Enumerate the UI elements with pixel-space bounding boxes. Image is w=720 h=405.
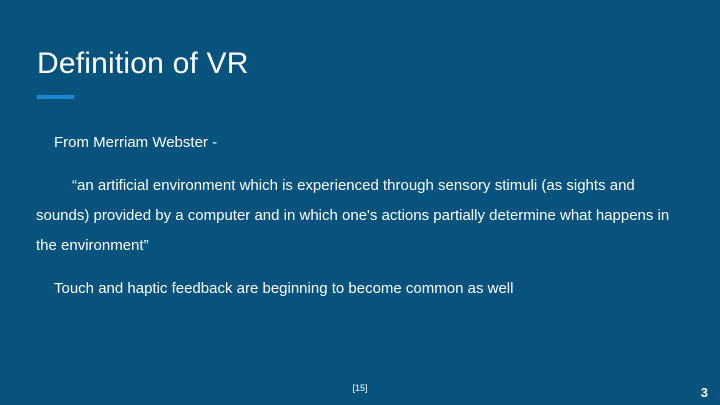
slide: Definition of VR From Merriam Webster - … xyxy=(0,0,720,405)
page-number: 3 xyxy=(701,385,708,401)
body-paragraph-quote: “an artificial environment which is expe… xyxy=(36,171,676,261)
body-paragraph-note: Touch and haptic feedback are beginning … xyxy=(36,274,676,304)
slide-body: From Merriam Webster - “an artificial en… xyxy=(36,128,676,304)
citation-reference: [15] xyxy=(0,382,720,394)
body-paragraph-source: From Merriam Webster - xyxy=(36,128,676,158)
page-title: Definition of VR xyxy=(37,46,249,82)
title-accent-bar xyxy=(37,95,74,99)
